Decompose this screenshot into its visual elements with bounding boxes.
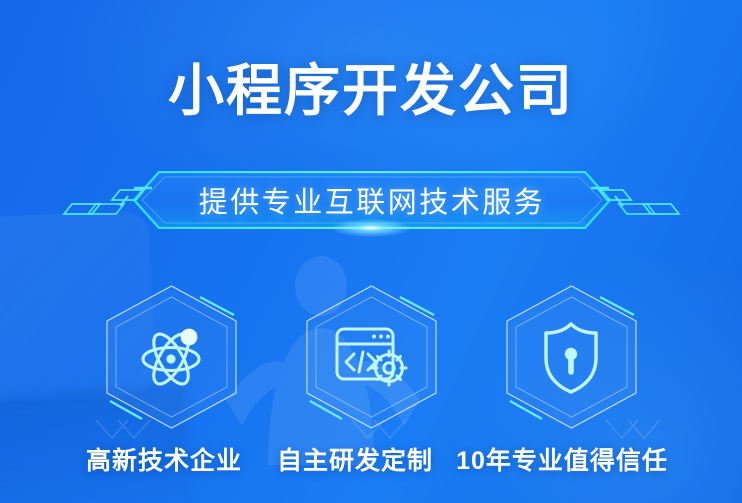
glow-spark-icon [331, 219, 411, 237]
feature-item-trusted[interactable] [500, 283, 643, 431]
feature-captions: 高新技术企业 自主研发定制 10年专业值得信任 [0, 441, 742, 477]
atom-molecule-icon [100, 283, 243, 431]
caption-trusted: 10年专业值得信任 [448, 441, 676, 477]
shield-lock-icon [500, 283, 643, 431]
feature-item-high-tech[interactable] [100, 283, 243, 431]
promo-banner: 小程序开发公司 提供专业互联网技术服务 [0, 0, 742, 503]
page-title: 小程序开发公司 [0, 62, 742, 121]
subtitle-banner: 提供专业互联网技术服务 [0, 170, 742, 232]
tech-lines-decoration-left-icon [62, 182, 158, 224]
feature-item-custom-dev[interactable] [300, 283, 443, 431]
caption-high-tech: 高新技术企业 [66, 441, 262, 477]
tech-lines-decoration-right-icon [585, 182, 681, 224]
feature-list [0, 283, 742, 431]
caption-custom-dev: 自主研发定制 [262, 441, 448, 477]
code-window-gear-icon [300, 283, 443, 431]
